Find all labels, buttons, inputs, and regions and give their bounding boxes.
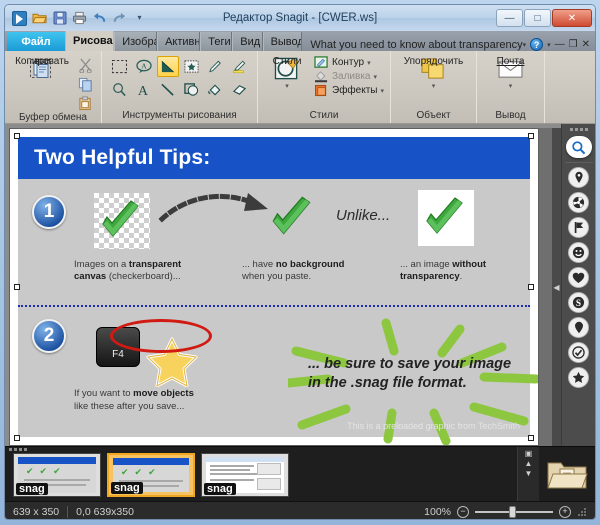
- stamp-smiley-icon[interactable]: [568, 242, 589, 263]
- quick-access-toolbar: ▾: [5, 10, 148, 27]
- customize-qat-icon[interactable]: ▾: [131, 10, 148, 27]
- stamp-check-icon[interactable]: [568, 342, 589, 363]
- capture-tray: ✔✔✔ snag ✔✔✔ snag: [5, 446, 595, 501]
- tip1-cap-a-bold2: canvas: [74, 271, 106, 282]
- svg-text:S: S: [576, 299, 581, 309]
- tip1-cap-c-text2: .: [460, 271, 463, 282]
- canvas-divider: [18, 305, 530, 307]
- tray-thumbnail-list: ✔✔✔ snag ✔✔✔ snag: [5, 447, 517, 501]
- window-controls: — □ ✕: [496, 9, 595, 27]
- tray-thumb-3[interactable]: snag: [201, 453, 289, 497]
- tray-thumb-1[interactable]: ✔✔✔ snag: [13, 453, 101, 497]
- svg-text:A: A: [138, 83, 149, 97]
- text-tool-icon[interactable]: A: [133, 79, 155, 100]
- line-tool-icon[interactable]: [157, 79, 179, 100]
- mail-button[interactable]: Почта ▾: [482, 54, 540, 90]
- tip-1-number-badge: 1: [32, 195, 66, 229]
- doc-close-icon[interactable]: ✕: [582, 39, 590, 50]
- tray-thumb-1-badge: snag: [16, 483, 48, 495]
- tip1-cap-a-text1: Images on a: [74, 259, 129, 270]
- fill-tool-icon[interactable]: [205, 79, 227, 100]
- ribbon: Копировать все Буфер обмена: [5, 51, 595, 124]
- doc-restore-icon[interactable]: ❐: [569, 39, 578, 50]
- zoom-slider-thumb[interactable]: [509, 506, 516, 518]
- effects-label: Эффекты: [332, 85, 377, 96]
- search-icon[interactable]: [566, 136, 592, 158]
- title-bar: ▾ Редактор Snagit - [CWER.ws] — □ ✕: [5, 5, 595, 31]
- tip1-cap-b-bold1: no background: [276, 259, 345, 270]
- ribbon-group-drawing-tools: A: [102, 51, 258, 123]
- stamp-radiation-icon[interactable]: [568, 192, 589, 213]
- highlighter-tool-icon[interactable]: [229, 56, 251, 77]
- application-window: ▾ Редактор Snagit - [CWER.ws] — □ ✕ Файл…: [0, 0, 600, 525]
- snag-line-2a: in the: [308, 375, 351, 391]
- outline-label: Контур: [332, 57, 364, 68]
- fill-option[interactable]: Заливка ▾: [314, 70, 384, 83]
- undo-icon[interactable]: [91, 10, 108, 27]
- stamp-heart-icon[interactable]: [568, 267, 589, 288]
- stamp-star-icon[interactable]: [568, 367, 589, 388]
- snag-line-2b: file format.: [389, 375, 467, 391]
- canvas-heading: Two Helpful Tips:: [18, 146, 210, 170]
- effects-icon: [314, 84, 329, 97]
- quick-styles-label: Стили: [273, 56, 302, 67]
- minimize-button[interactable]: —: [496, 9, 523, 27]
- svg-text:A: A: [141, 61, 147, 70]
- pen-tool-icon[interactable]: [205, 56, 227, 77]
- ribbon-group-clipboard: Копировать все Буфер обмена: [5, 51, 102, 123]
- tray-scroll-up-icon[interactable]: ▲: [525, 459, 533, 468]
- selection-handle-br[interactable]: [528, 435, 534, 441]
- ribbon-group-object-label: Объект: [395, 110, 472, 123]
- zoom-controls: 100% − +: [424, 506, 595, 518]
- tip-2-number-badge: 2: [32, 319, 66, 353]
- editor-area: Two Helpful Tips: 1: [5, 124, 595, 446]
- selection-handle-tr[interactable]: [528, 133, 534, 139]
- image-canvas[interactable]: Two Helpful Tips: 1: [18, 137, 530, 437]
- selection-handle-r[interactable]: [528, 284, 534, 290]
- document-title: What you need to know about transparency: [302, 39, 522, 51]
- tray-scroll-down-icon[interactable]: ▼: [525, 469, 533, 478]
- tray-nav-controls: ▣ ▲ ▼: [517, 447, 539, 501]
- help-icon[interactable]: ?: [530, 38, 543, 51]
- tray-top-icon[interactable]: ▣: [525, 449, 533, 458]
- tip1-cap-a-text2: (checkerboard)...: [106, 271, 180, 282]
- tip1-cap-c-bold2: transparency: [400, 271, 460, 282]
- green-check-no-background: [264, 189, 322, 247]
- outline-caret-icon[interactable]: ▾: [367, 59, 371, 67]
- stamp-pin-icon[interactable]: [568, 167, 589, 188]
- stamps-panel: S: [561, 124, 595, 446]
- tab-file[interactable]: Файл: [7, 32, 65, 51]
- document-title-area: What you need to know about transparency…: [302, 38, 595, 51]
- callout-tool-icon[interactable]: A: [133, 56, 155, 77]
- zoom-out-button[interactable]: −: [457, 506, 469, 518]
- clipboard-small-buttons: [75, 54, 95, 112]
- ribbon-tab-strip: Файл Рисован Изобра Активні Теги Вид Выв…: [5, 31, 595, 51]
- arrange-label: Упорядочить: [404, 56, 464, 67]
- tab-hotspots[interactable]: Активні: [157, 32, 200, 51]
- eraser-tool-icon[interactable]: [229, 79, 251, 100]
- ribbon-group-drawing-tools-label: Инструменты рисования: [106, 110, 253, 123]
- selection-handle-tl[interactable]: [14, 133, 20, 139]
- mail-label: Почта: [497, 56, 525, 67]
- techsmith-credit: This is a preloaded graphic from TechSmi…: [347, 421, 520, 431]
- ribbon-group-output: Почта ▾ Вывод: [477, 51, 545, 123]
- redo-icon[interactable]: [111, 10, 128, 27]
- help-caret-icon[interactable]: ▾: [547, 41, 551, 49]
- close-button[interactable]: ✕: [552, 9, 592, 27]
- tip1-cap-b-text2: when you paste.: [242, 271, 311, 282]
- stamp-flag-icon[interactable]: [568, 217, 589, 238]
- tab-tags[interactable]: Теги: [200, 32, 232, 51]
- quick-styles-caret-icon[interactable]: ▾: [285, 82, 289, 90]
- zoom-in-button[interactable]: +: [559, 506, 571, 518]
- stamp-location-icon[interactable]: [568, 317, 589, 338]
- canvas-vertical-scrollbar[interactable]: [539, 128, 552, 446]
- tab-share[interactable]: Вывод: [263, 32, 303, 51]
- snag-line-1: ... be sure to save your image: [308, 356, 511, 372]
- arrange-caret-icon[interactable]: ▾: [432, 82, 436, 90]
- tray-grip[interactable]: [9, 448, 27, 451]
- maximize-button[interactable]: □: [524, 9, 551, 27]
- transparent-checker-swatch: [94, 193, 150, 249]
- magnify-tool-icon[interactable]: [109, 79, 131, 100]
- snagit-logo-icon[interactable]: [11, 10, 28, 27]
- zoom-slider[interactable]: [475, 511, 553, 513]
- stamps-panel-collapse-handle[interactable]: ◀: [552, 128, 561, 446]
- tab-image[interactable]: Изобра: [114, 32, 157, 51]
- copy-all-label-2: все: [34, 56, 50, 67]
- dotted-arrow-icon: [158, 189, 278, 229]
- zoom-percent: 100%: [424, 506, 451, 518]
- tip2-cap-text1: If you want to: [74, 388, 133, 399]
- fill-icon: [314, 70, 329, 83]
- arrange-button[interactable]: Упорядочить ▾: [395, 54, 473, 90]
- ribbon-group-output-label: Вывод: [481, 110, 540, 123]
- stamp-tool-icon[interactable]: [181, 56, 203, 77]
- tray-thumb-2-badge: snag: [111, 482, 143, 494]
- window-resize-grip[interactable]: [577, 507, 587, 517]
- stamp-dollar-icon[interactable]: S: [568, 292, 589, 313]
- status-dimensions: 639 x 350: [5, 506, 67, 518]
- arrow-tool-icon[interactable]: [157, 56, 179, 77]
- tray-thumb-3-badge: snag: [204, 483, 236, 495]
- effects-option[interactable]: Эффекты ▾: [314, 84, 384, 97]
- tip2-cap-text2: like these after you save...: [74, 401, 184, 412]
- red-ellipse-annotation: [110, 319, 212, 353]
- status-position-size: 0,0 639x350: [68, 506, 142, 518]
- cut-icon[interactable]: [75, 56, 95, 74]
- tip1-cap-b-text1: ... have: [242, 259, 276, 270]
- tab-view[interactable]: Вид: [232, 32, 262, 51]
- snagit-editor-frame: ▾ Редактор Snagit - [CWER.ws] — □ ✕ Файл…: [4, 4, 596, 520]
- copy-icon[interactable]: [75, 75, 95, 93]
- tip1-cap-c-text1: ... an image: [400, 259, 452, 270]
- tip2-cap-bold1: move objects: [133, 388, 194, 399]
- status-bar: 639 x 350 0,0 639x350 100% − +: [5, 501, 595, 520]
- tab-draw[interactable]: Рисован: [65, 31, 114, 51]
- save-icon[interactable]: [51, 10, 68, 27]
- fill-label: Заливка: [332, 71, 371, 82]
- document-menu-caret-icon[interactable]: ▾: [523, 41, 527, 49]
- doc-minimize-icon[interactable]: —: [555, 39, 565, 50]
- fill-caret-icon[interactable]: ▾: [374, 73, 378, 81]
- ribbon-group-object: Упорядочить ▾ Объект: [391, 51, 477, 123]
- mail-caret-icon[interactable]: ▾: [509, 82, 513, 90]
- outline-icon: [314, 56, 329, 69]
- canvas-scroll-region[interactable]: Two Helpful Tips: 1: [9, 128, 539, 446]
- selection-tool-icon[interactable]: [109, 56, 131, 77]
- quick-styles-button[interactable]: Стили ▾: [264, 54, 310, 90]
- tip-1-caption-a: Images on a transparent canvas (checkerb…: [74, 259, 244, 283]
- stamps-separator: [565, 162, 593, 163]
- print-icon[interactable]: [71, 10, 88, 27]
- white-background-swatch: [418, 190, 474, 246]
- tip-1-caption-c: ... an image without transparency.: [400, 259, 539, 283]
- ribbon-group-styles-label: Стили: [262, 110, 386, 123]
- ribbon-group-styles: Стили ▾ Контур ▾ Зали: [258, 51, 391, 123]
- library-folder-icon[interactable]: [539, 447, 595, 501]
- unlike-text: Unlike...: [336, 207, 390, 224]
- effects-caret-icon[interactable]: ▾: [380, 87, 384, 95]
- paste-icon[interactable]: [75, 94, 95, 112]
- stamps-panel-grip[interactable]: [566, 126, 592, 133]
- tip-1-caption-b: ... have no background when you paste.: [242, 259, 372, 283]
- copy-all-button[interactable]: Копировать все: [11, 54, 73, 82]
- outline-option[interactable]: Контур ▾: [314, 56, 384, 69]
- tray-thumb-2[interactable]: ✔✔✔ snag: [107, 453, 195, 497]
- tip1-cap-a-bold1: transparent: [129, 259, 181, 270]
- ribbon-right-controls: ▾ ? ▾ — ❐ ✕: [523, 38, 595, 51]
- shape-tool-icon[interactable]: [181, 79, 203, 100]
- snag-format-text: ... be sure to save your image in the .s…: [308, 355, 538, 393]
- style-options-list: Контур ▾ Заливка ▾ Эффекты: [312, 54, 384, 97]
- tip-2-caption: If you want to move objects like these a…: [74, 387, 274, 413]
- selection-handle-l[interactable]: [14, 284, 20, 290]
- selection-handle-bl[interactable]: [14, 435, 20, 441]
- open-icon[interactable]: [31, 10, 48, 27]
- snag-line-2-bold: .snag: [351, 375, 389, 391]
- tip1-cap-c-bold1: without: [452, 259, 486, 270]
- canvas-heading-band: Two Helpful Tips:: [18, 137, 530, 179]
- drawing-tools-grid: A: [108, 54, 252, 101]
